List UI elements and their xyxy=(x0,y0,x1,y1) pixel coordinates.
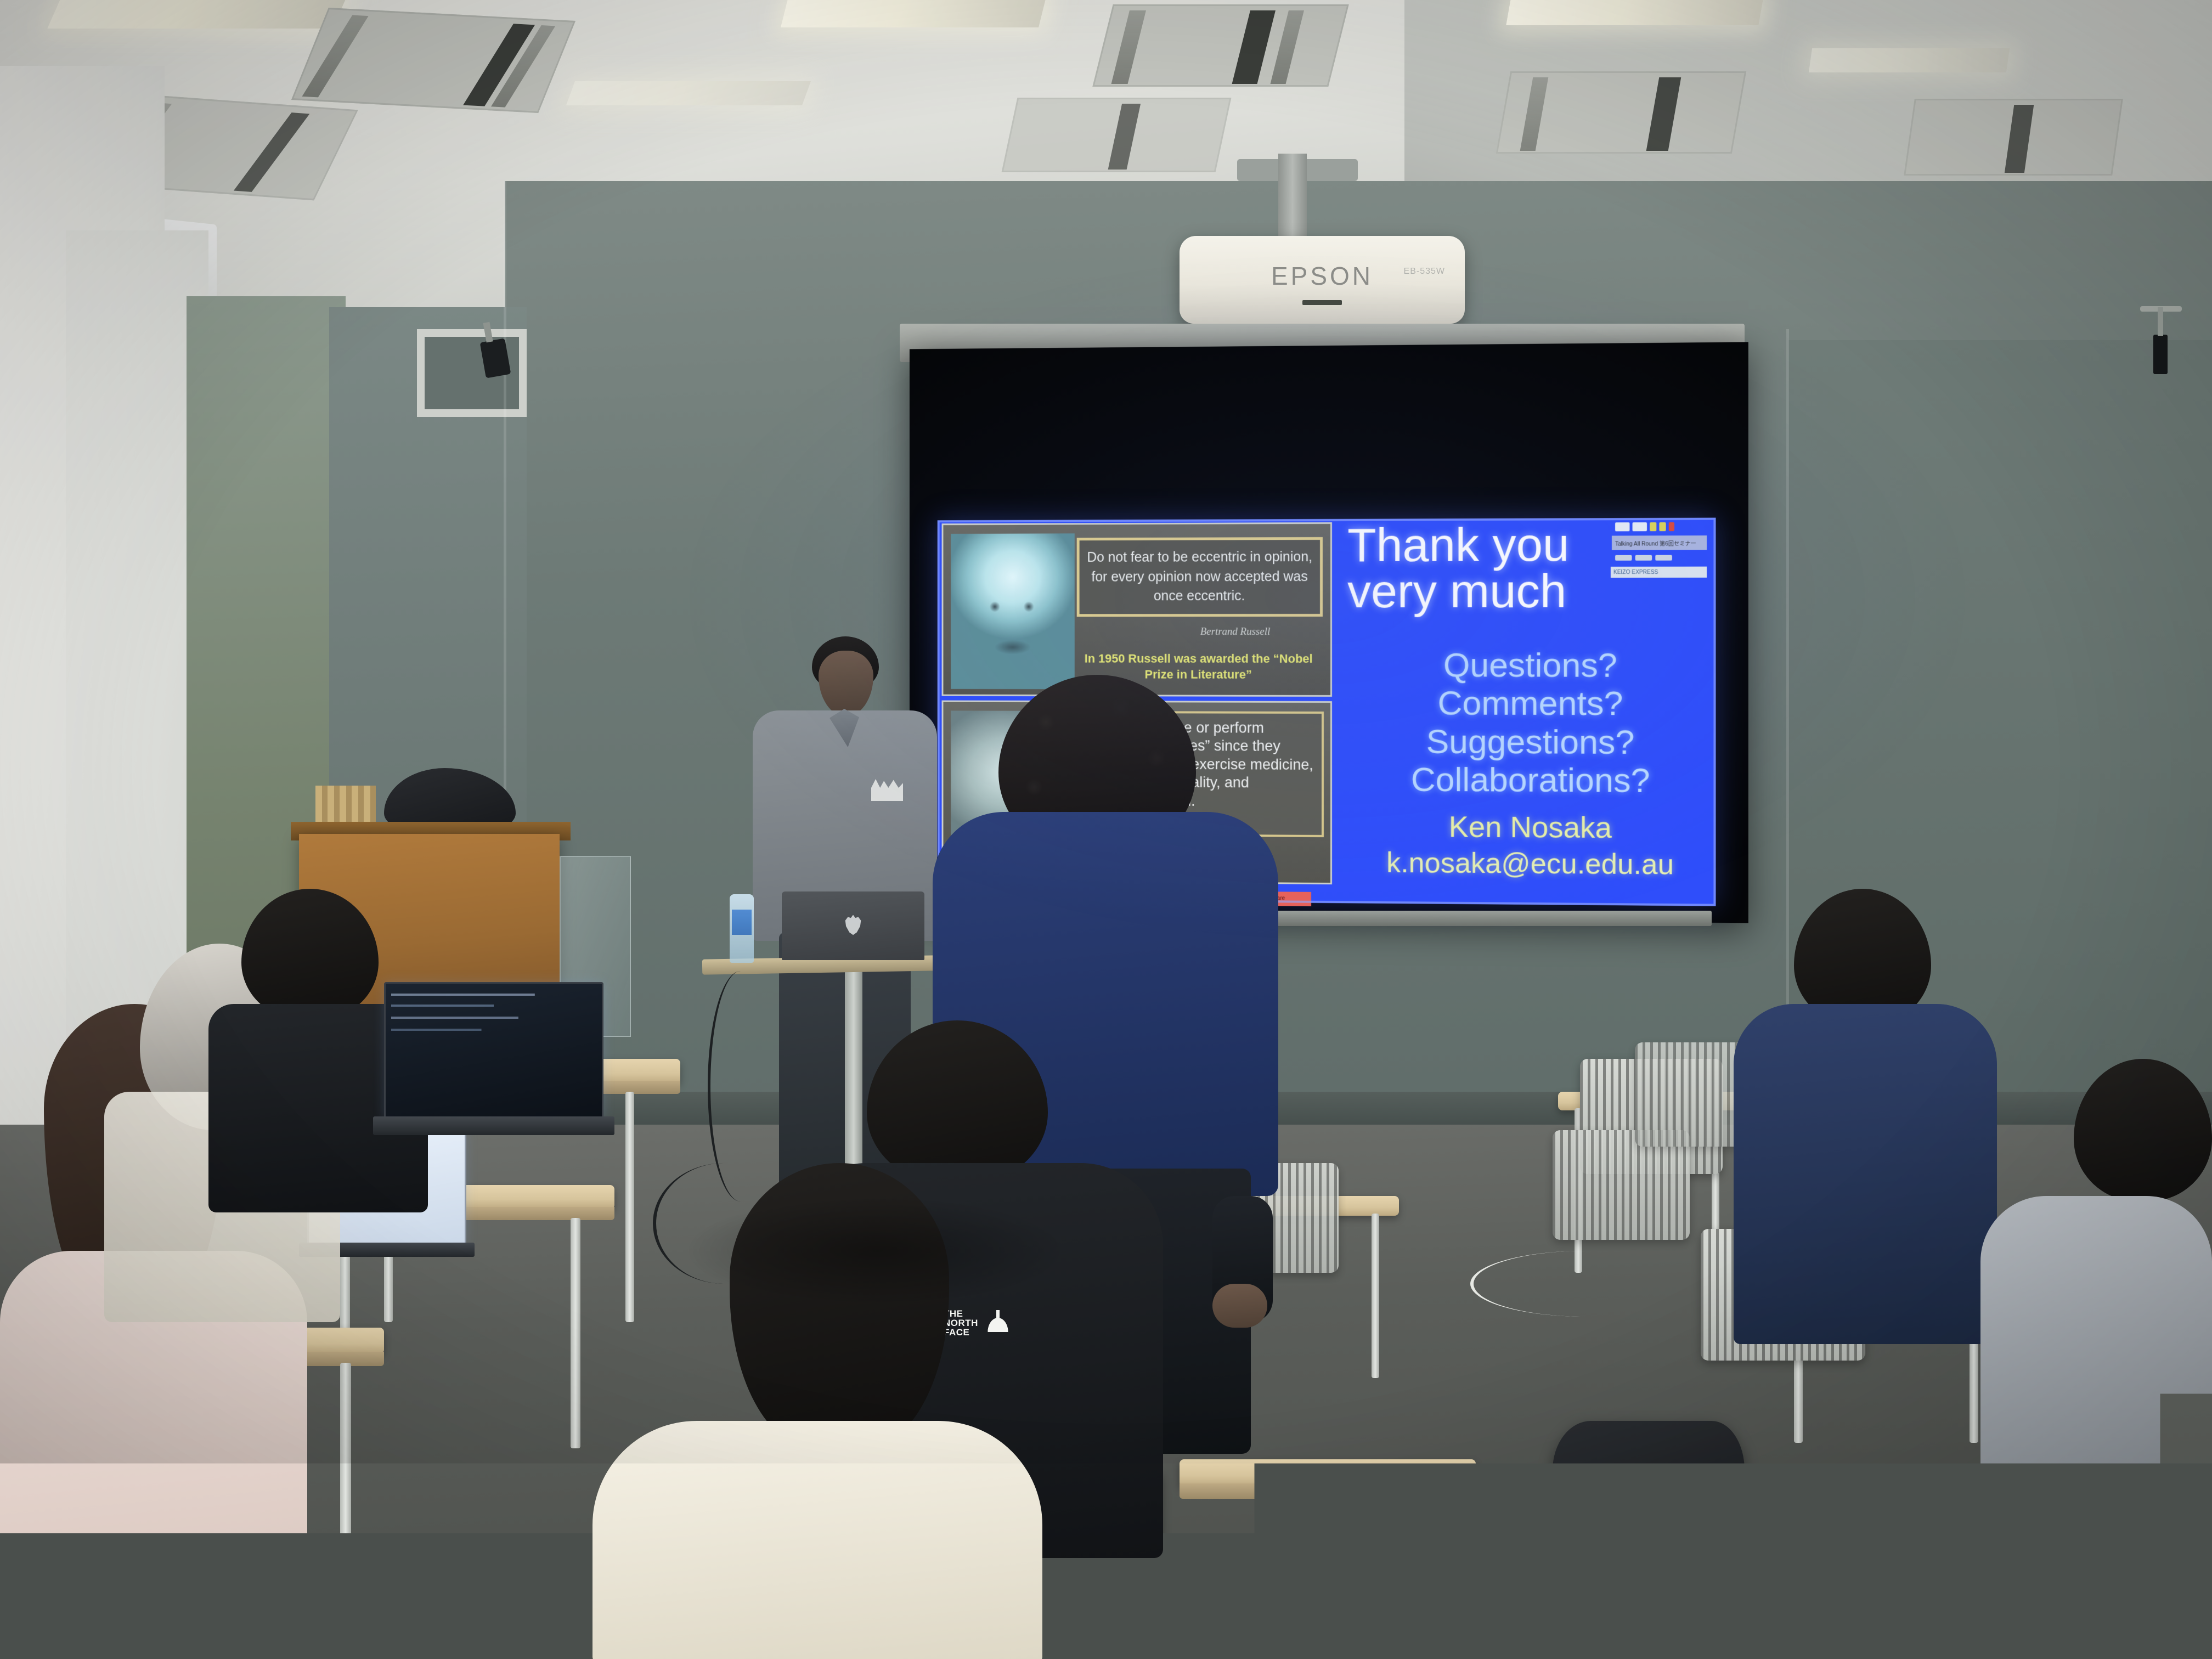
ceiling-speaker-icon xyxy=(2153,335,2168,374)
ceiling-vent-3 xyxy=(1092,4,1348,87)
desk-leg xyxy=(571,1218,580,1448)
presenter-laptop xyxy=(782,891,924,960)
projector: EPSON EB-535W xyxy=(1180,236,1465,324)
ceiling-light-1 xyxy=(47,0,348,29)
person-torso xyxy=(1980,1196,2212,1580)
projector-model-label: EB-535W xyxy=(1404,267,1445,276)
brand-line-2: NORTH xyxy=(944,1318,978,1328)
projector-mount-arm xyxy=(1278,154,1307,236)
ceiling-vent-1 xyxy=(291,8,575,113)
ceiling-vent-4 xyxy=(1496,71,1746,154)
water-bottle xyxy=(730,894,754,963)
ceiling-vent-6 xyxy=(1904,99,2123,176)
brand-line-1: THE xyxy=(944,1309,978,1318)
north-face-arc-icon xyxy=(981,1307,1015,1332)
desk-leg xyxy=(625,1092,634,1322)
lecture-hall-photo: EPSON EB-535W Do not fear to be eccentri… xyxy=(0,0,2212,1659)
ceiling-vent-5 xyxy=(1002,98,1232,172)
floor-shadow xyxy=(686,1196,1070,1306)
ceiling-light-3 xyxy=(1506,0,1764,25)
audience-laptop-2-base xyxy=(373,1116,614,1135)
chair[interactable] xyxy=(1553,1130,1690,1240)
person-hand xyxy=(1212,1284,1267,1328)
ceiling-light-2 xyxy=(781,0,1046,27)
power-cable-3 xyxy=(1470,1251,1701,1317)
desk xyxy=(1180,1459,1476,1487)
audience-laptop-2[interactable] xyxy=(384,982,603,1119)
shelf-books xyxy=(315,786,376,824)
ceiling-light-5 xyxy=(1809,48,2010,72)
north-face-logo: THE NORTH FACE xyxy=(944,1306,1015,1334)
person-torso xyxy=(1734,1004,1997,1344)
laptop-content xyxy=(391,990,596,1112)
ceiling-light-4 xyxy=(566,81,811,105)
person-torso xyxy=(592,1421,1042,1659)
desk-leg xyxy=(340,1363,351,1626)
desk-edge xyxy=(1180,1483,1476,1499)
brand-line-3: FACE xyxy=(944,1328,978,1337)
projector-vent-slot xyxy=(1302,300,1342,305)
desk-leg xyxy=(1372,1214,1379,1378)
floor-shadow xyxy=(1509,1580,1838,1659)
